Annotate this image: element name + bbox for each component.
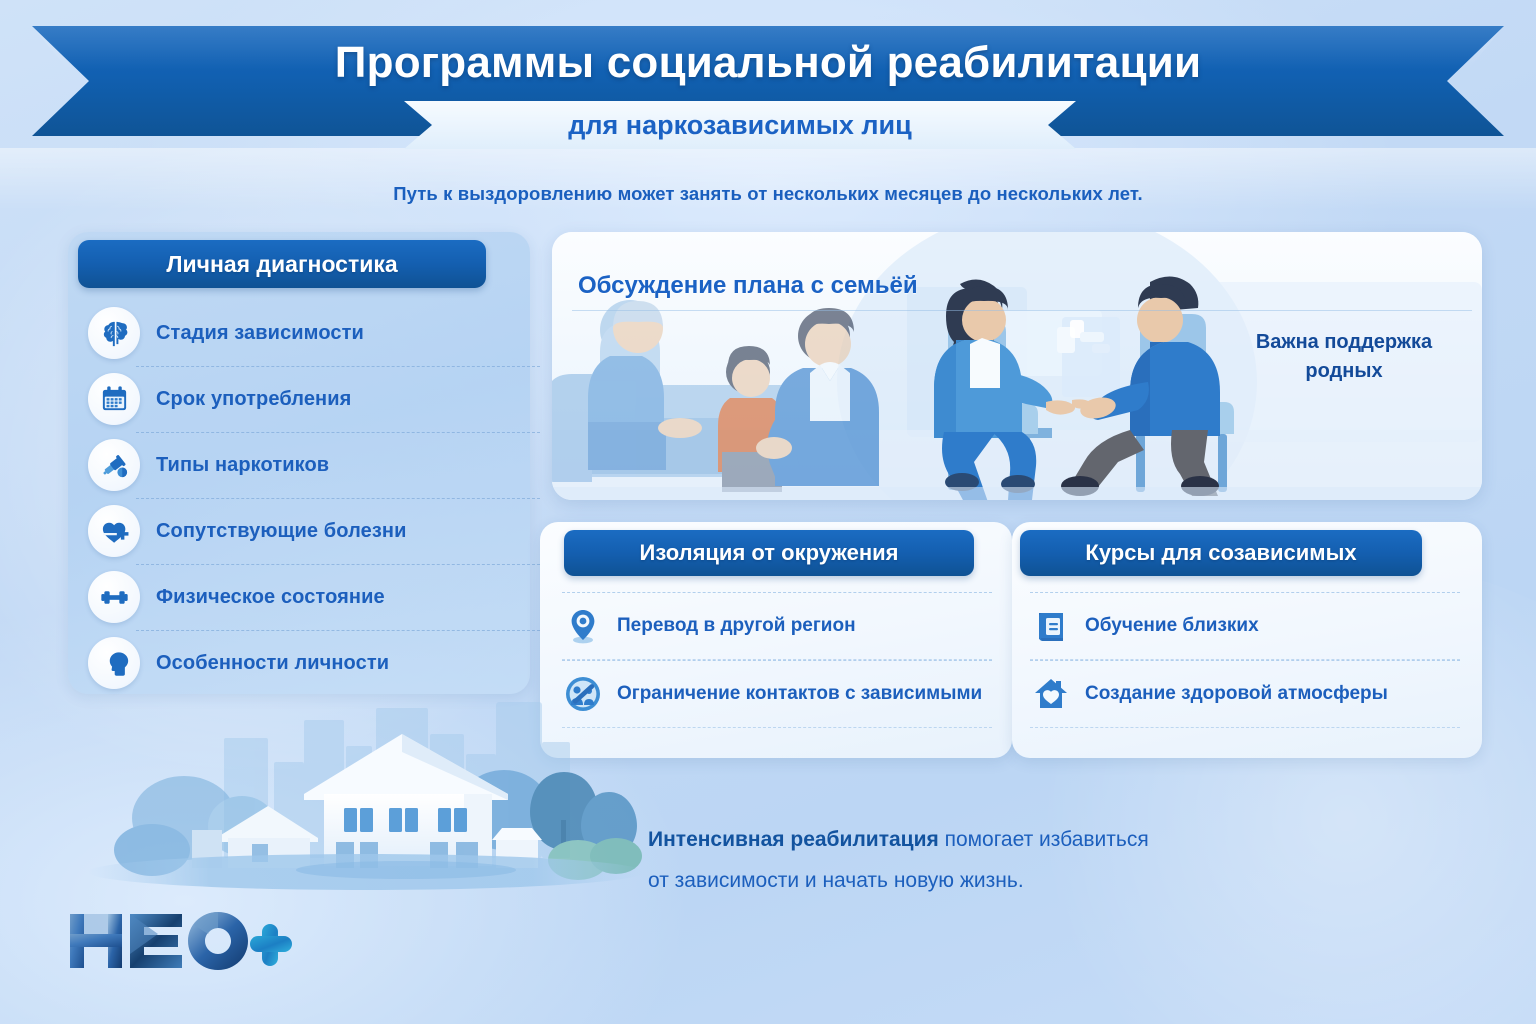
list-item: Срок употребления: [88, 366, 520, 432]
list-item: Физическое состояние: [88, 564, 520, 630]
logo-letter-o: [188, 912, 248, 970]
syringe-icon: [88, 439, 140, 491]
list-item-label: Физическое состояние: [156, 586, 385, 609]
list-item: Сопутствующие болезни: [88, 498, 520, 564]
diagnostics-list: Стадия зависимости: [88, 300, 520, 696]
list-item: Перевод в другой регион: [562, 592, 992, 660]
list-item-label: Срок употребления: [156, 388, 351, 411]
logo: [66, 908, 306, 974]
hero-title: Обсуждение плана с семьёй: [578, 272, 918, 300]
logo-plus: [250, 924, 292, 966]
house-city-illustration: [56, 690, 676, 910]
footer-rest: помогает избавиться: [939, 828, 1149, 851]
brain-icon: [88, 307, 140, 359]
list-item: Типы наркотиков: [88, 432, 520, 498]
map-pin-icon: [562, 607, 604, 645]
footer-strong: Интенсивная реабилитация: [648, 828, 939, 851]
courses-header: Курсы для созависимых: [1020, 530, 1422, 576]
footer-line2: от зависимости и начать новую жизнь.: [648, 869, 1024, 892]
heart-plus-icon: [88, 505, 140, 557]
page-subtitle: для наркозависимых лиц: [404, 101, 1076, 149]
list-item-label: Типы наркотиков: [156, 454, 329, 477]
lead-text: Путь к выздоровлению может занять от нес…: [0, 183, 1536, 205]
list-item-label: Обучение близких: [1085, 615, 1259, 637]
list-item-label: Сопутствующие болезни: [156, 520, 406, 543]
list-item: Стадия зависимости: [88, 300, 520, 366]
diagnostics-header: Личная диагностика: [78, 240, 486, 288]
hero-note: Важна поддержка родных: [1228, 328, 1460, 386]
list-item: Обучение близких: [1030, 592, 1460, 660]
list-item-label: Стадия зависимости: [156, 322, 364, 345]
calendar-icon: [88, 373, 140, 425]
book-icon: [1030, 607, 1072, 645]
infographic-poster: Программы социальной реабилитации для на…: [0, 0, 1536, 1024]
footer-text: Интенсивная реабилитация помогает избави…: [648, 820, 1368, 902]
head-profile-icon: [88, 637, 140, 689]
list-item: Особенности личности: [88, 630, 520, 696]
courses-list: Обучение близких Создание здоровой атмос…: [1030, 592, 1460, 728]
house-heart-icon: [1030, 675, 1072, 713]
logo-letter-n: [70, 914, 122, 968]
hero-divider: [572, 310, 1472, 311]
list-item-label: Создание здоровой атмосферы: [1085, 683, 1388, 705]
isolation-header: Изоляция от окружения: [564, 530, 974, 576]
dumbbell-icon: [88, 571, 140, 623]
list-item-label: Особенности личности: [156, 652, 389, 675]
list-item: Создание здоровой атмосферы: [1030, 660, 1460, 728]
list-item-label: Перевод в другой регион: [617, 615, 856, 637]
logo-letter-e: [130, 914, 182, 968]
page-title: Программы социальной реабилитации: [0, 38, 1536, 88]
